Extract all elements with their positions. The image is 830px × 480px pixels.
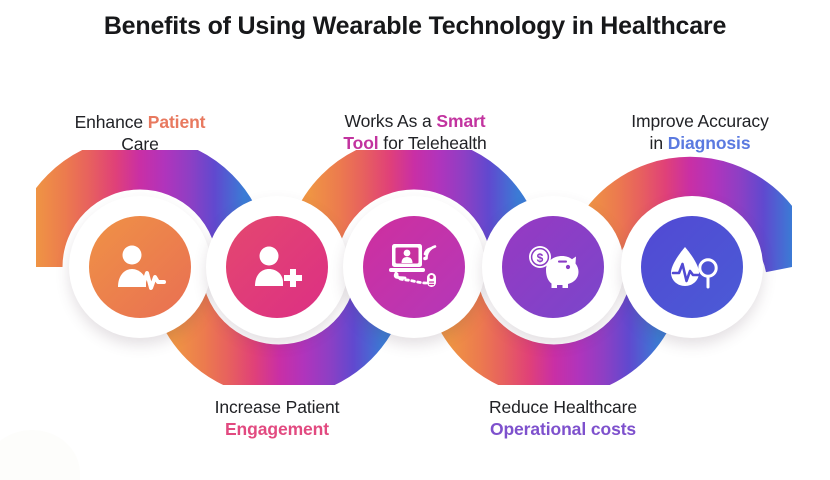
caption-5-line2-accent: Diagnosis <box>668 133 751 153</box>
node-reduce-operational-costs[interactable]: $ <box>482 196 624 338</box>
caption-3-line1-accent: Smart <box>436 111 485 131</box>
icon-disc-3 <box>363 216 465 318</box>
node-improve-diagnosis-accuracy[interactable] <box>621 196 763 338</box>
icon-disc-2 <box>226 216 328 318</box>
caption-1-line2-plain: Care <box>121 134 159 154</box>
caption-3-line2-accent: Tool <box>343 133 378 153</box>
piggy-bank-icon: $ <box>526 244 580 290</box>
blood-drop-analysis-icon <box>665 243 719 291</box>
caption-5-line2-plain: in <box>650 133 668 153</box>
caption-2-line1-plain: Increase Patient <box>215 397 340 417</box>
caption-smart-tool-telehealth: Works As a Smart Tool for Telehealth <box>295 110 535 154</box>
caption-reduce-operational-costs: Reduce Healthcare Operational costs <box>443 396 683 440</box>
caption-3-line1-plain: Works As a <box>344 111 436 131</box>
patient-pulse-icon <box>113 243 167 291</box>
caption-5-line1-plain: Improve Accuracy <box>631 111 768 131</box>
icon-disc-4: $ <box>502 216 604 318</box>
caption-improve-diagnosis-accuracy: Improve Accuracy in Diagnosis <box>580 110 820 154</box>
caption-4-line1-plain: Reduce Healthcare <box>489 397 637 417</box>
caption-1-line1-accent: Patient <box>148 112 206 132</box>
telehealth-laptop-icon <box>387 241 441 293</box>
caption-3-line2-plain: for Telehealth <box>379 133 487 153</box>
caption-increase-patient-engagement: Increase Patient Engagement <box>157 396 397 440</box>
node-smart-tool-telehealth[interactable] <box>343 196 485 338</box>
node-increase-patient-engagement[interactable] <box>206 196 348 338</box>
caption-1-line1-plain: Enhance <box>75 112 148 132</box>
caption-enhance-patient-care: Enhance Patient Care <box>20 111 260 155</box>
icon-disc-1 <box>89 216 191 318</box>
infographic-canvas: Benefits of Using Wearable Technology in… <box>0 0 830 480</box>
svg-text:$: $ <box>537 251 544 265</box>
caption-2-line2-accent: Engagement <box>225 419 329 439</box>
icon-disc-5 <box>641 216 743 318</box>
caption-4-line2-accent: Operational costs <box>490 419 636 439</box>
node-enhance-patient-care[interactable] <box>69 196 211 338</box>
add-person-icon <box>251 244 303 290</box>
